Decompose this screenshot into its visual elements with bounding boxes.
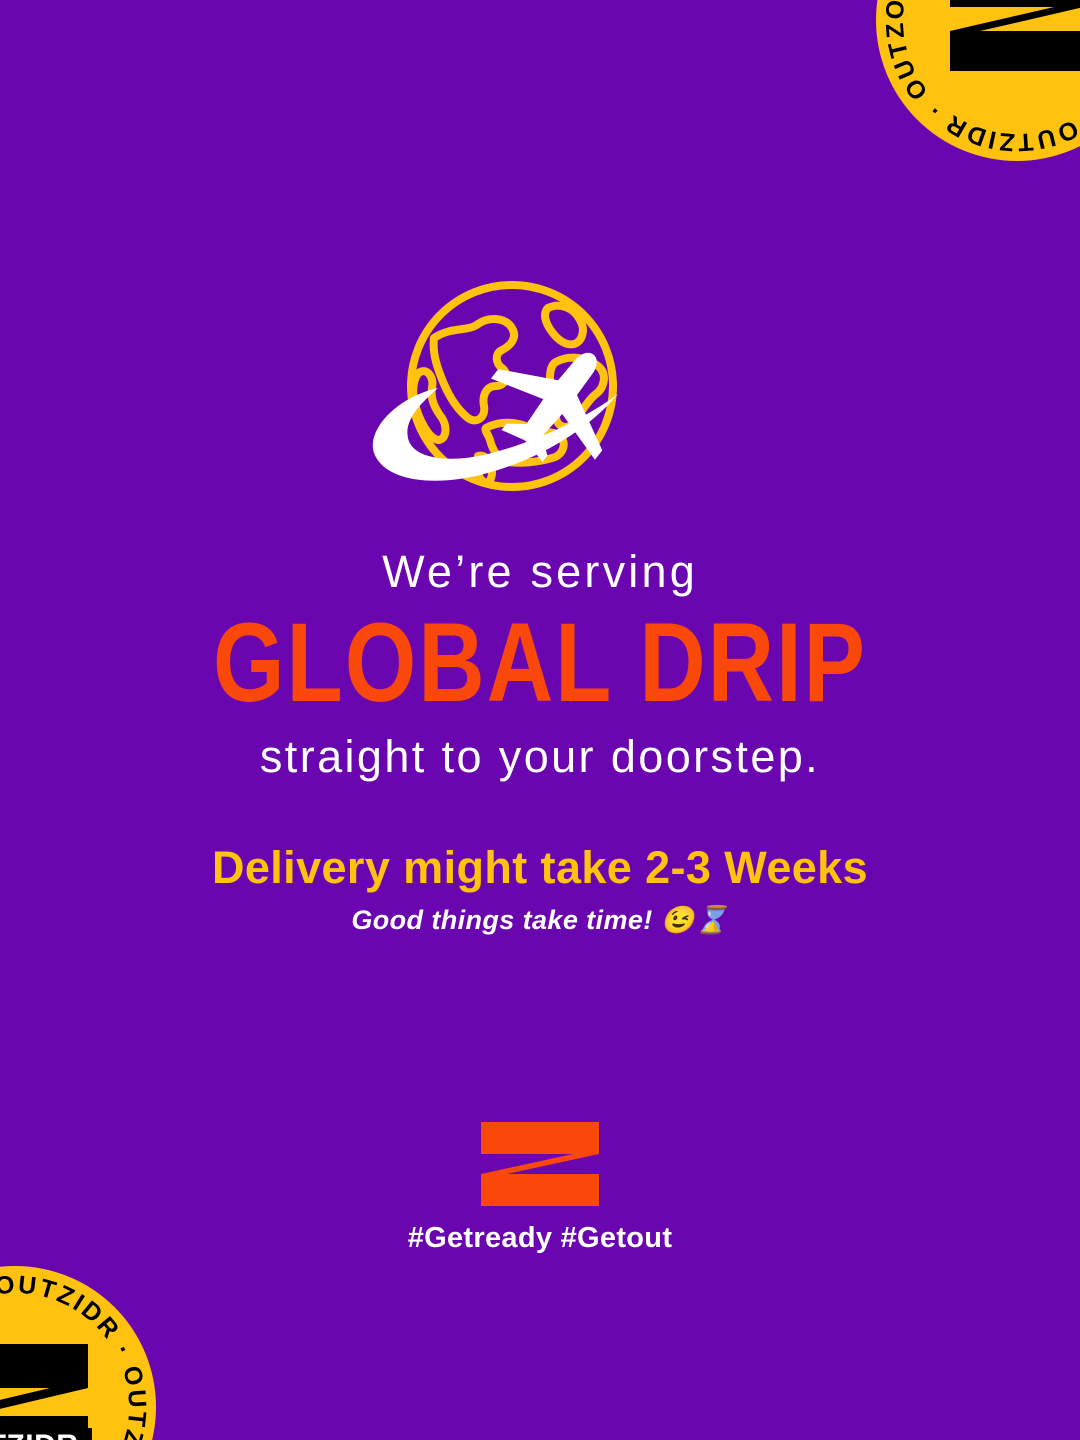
z-logo-icon bbox=[479, 1120, 601, 1208]
globe-airplane-icon bbox=[360, 268, 720, 518]
badge-inner-label: OUTZIDR bbox=[0, 1429, 78, 1440]
hashtags: #Getready #Getout bbox=[0, 1222, 1080, 1255]
doorstep-line: straight to your doorstep. bbox=[0, 733, 1080, 780]
copy-block: We’re serving GLOBAL DRIP straight to yo… bbox=[0, 548, 1080, 936]
outzidr-badge-top-right: OUTZIDR · OUTZIDR · OUTZIDR · OUTZIDR · … bbox=[872, 0, 1080, 165]
footer-brand: #Getready #Getout bbox=[0, 1120, 1080, 1255]
poster-canvas: OUTZIDR · OUTZIDR · OUTZIDR · OUTZIDR · … bbox=[0, 0, 1080, 1440]
headline: GLOBAL DRIP bbox=[0, 607, 1080, 719]
outzidr-badge-bottom-left: OUTZIDR · OUTZIDR · OUTZIDR · OUTZIDR · … bbox=[0, 1262, 160, 1440]
tagline: Good things take time! 😉⌛ bbox=[0, 904, 1080, 936]
delivery-estimate: Delivery might take 2-3 Weeks bbox=[0, 843, 1080, 893]
serving-line: We’re serving bbox=[0, 548, 1080, 595]
